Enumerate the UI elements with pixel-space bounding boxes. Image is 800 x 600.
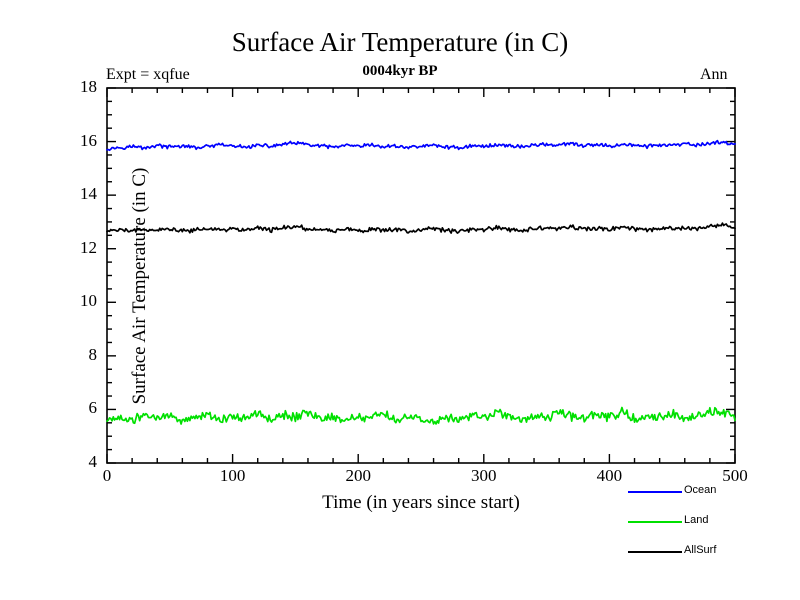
series-line-ocean [107, 141, 735, 151]
legend-swatch-ocean [628, 491, 682, 493]
data-series-group [107, 141, 735, 424]
axis-ticks [107, 88, 735, 463]
series-line-land [107, 408, 735, 425]
series-line-allsurf [107, 223, 735, 233]
plot-area [0, 0, 800, 600]
legend-label: AllSurf [684, 544, 716, 556]
legend-swatch-land [628, 521, 682, 523]
legend-label: Ocean [684, 484, 716, 496]
legend-swatch-allsurf [628, 551, 682, 553]
axes-frame [107, 88, 735, 463]
legend-label: Land [684, 514, 708, 526]
chart-figure: Surface Air Temperature (in C) 0004kyr B… [0, 0, 800, 600]
